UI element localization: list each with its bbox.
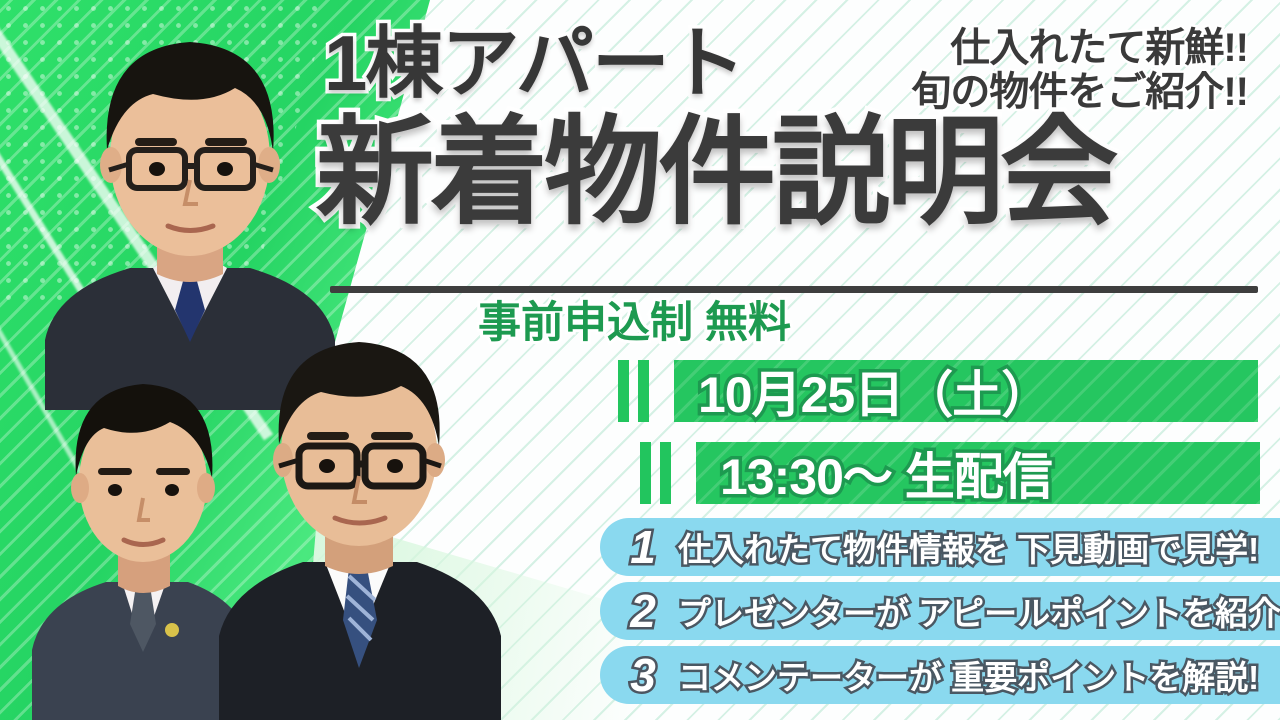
list-item-label: 仕入れたて物件情報を 下見動画で見学! (678, 523, 1259, 571)
list-item-number: 1 (614, 518, 672, 576)
title-line-2: 新着物件説明会 (316, 114, 1114, 232)
list-item-number: 2 (614, 582, 672, 640)
list-item: 2 プレゼンターが アピールポイントを紹介! (600, 582, 1280, 640)
poster-stage: 1棟アパート 仕入れたて新鮮!! 旬の物件をご紹介!! 新着物件説明会 事前申込… (0, 0, 1280, 720)
event-date-text: 10月25日（土） (674, 355, 1050, 427)
event-time-text: 13:30〜 生配信 (696, 437, 1052, 509)
band-body: 10月25日（土） (674, 360, 1258, 422)
band-accent-bars (618, 360, 658, 422)
list-item-label: プレゼンターが アピールポイントを紹介! (678, 587, 1280, 635)
subtitle-free-preregistration: 事前申込制 無料 (478, 300, 791, 346)
event-time-band: 13:30〜 生配信 (640, 442, 1260, 504)
headline-divider (330, 286, 1258, 293)
list-item: 3 コメンテーターが 重要ポイントを解説! (600, 646, 1280, 704)
program-points-list: 1 仕入れたて物件情報を 下見動画で見学! 2 プレゼンターが アピールポイント… (600, 518, 1280, 710)
photo-commentator-glasses-front (215, 300, 505, 720)
title-line-1: 1棟アパート (324, 24, 744, 102)
list-item-label: コメンテーターが 重要ポイントを解説! (678, 651, 1259, 699)
tagline-block: 仕入れたて新鮮!! 旬の物件をご紹介!! (911, 26, 1248, 114)
event-date-band: 10月25日（土） (618, 360, 1258, 422)
band-body: 13:30〜 生配信 (696, 442, 1260, 504)
list-item: 1 仕入れたて物件情報を 下見動画で見学! (600, 518, 1280, 576)
list-item-number: 3 (614, 646, 672, 704)
tagline-line-1: 仕入れたて新鮮!! (911, 26, 1248, 70)
band-accent-bars (640, 442, 680, 504)
headline-block: 1棟アパート 仕入れたて新鮮!! 旬の物件をご紹介!! 新着物件説明会 (316, 10, 1266, 300)
